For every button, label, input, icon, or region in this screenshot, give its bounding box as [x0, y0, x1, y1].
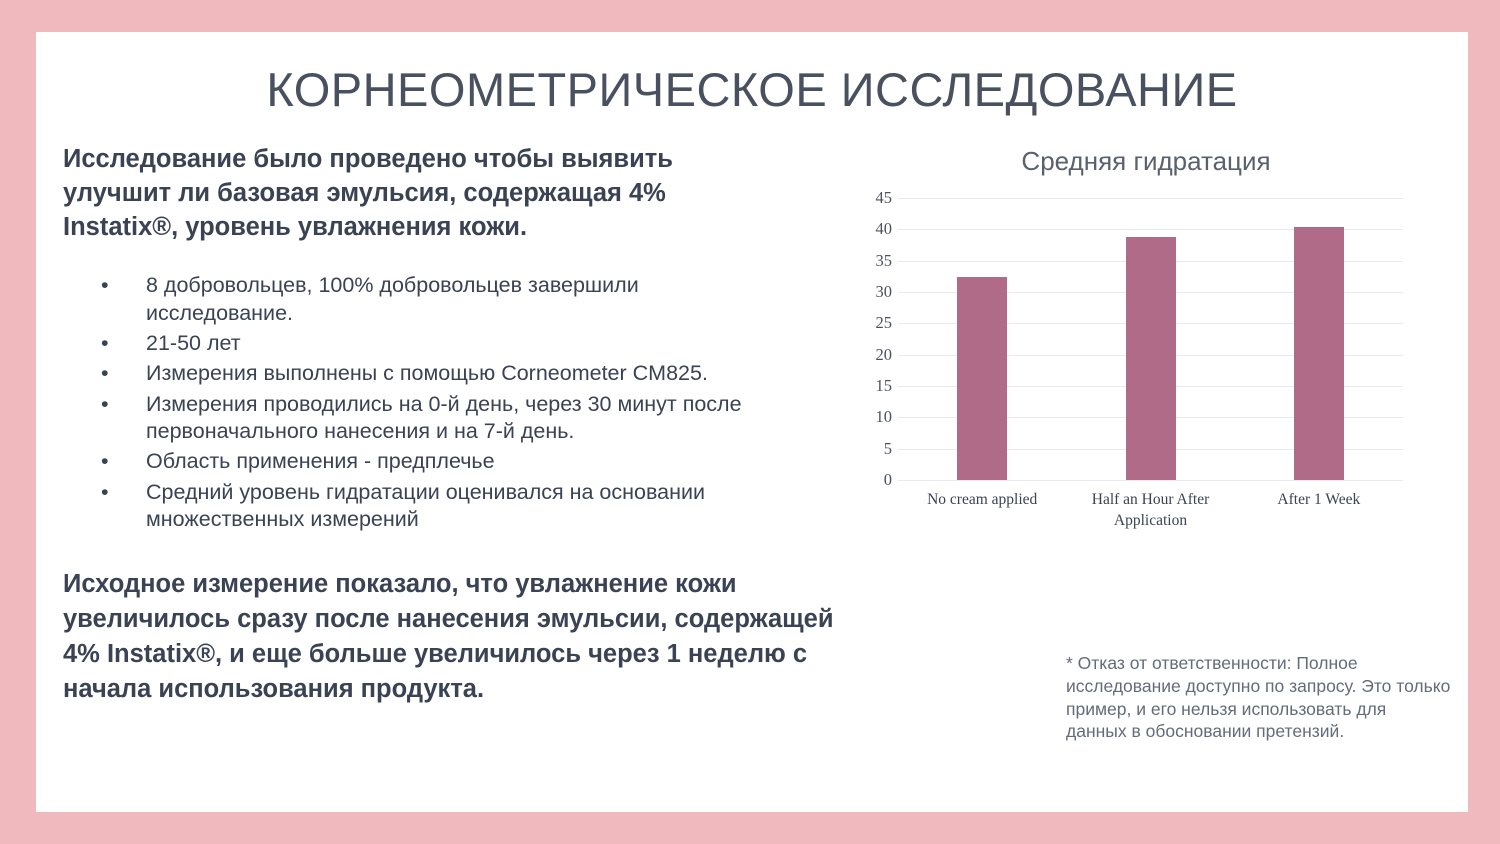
- list-item-label: Измерения выполнены с помощью Corneomete…: [146, 361, 708, 385]
- y-axis-ticks: 454035302520151050: [850, 198, 892, 480]
- gridline: [898, 480, 1403, 481]
- y-axis-tick-label: 30: [850, 282, 892, 302]
- list-item: • 21-50 лет: [63, 330, 783, 357]
- y-axis-tick-label: 25: [850, 313, 892, 333]
- list-item: • Область применения - предплечье: [63, 448, 783, 475]
- bar: [957, 277, 1007, 480]
- list-item-label: 8 добровольцев, 100% добровольцев заверш…: [146, 273, 639, 324]
- bullet-icon: •: [101, 479, 109, 506]
- list-item-label: Измерения проводились на 0-й день, через…: [146, 392, 742, 443]
- bullet-icon: •: [101, 330, 109, 357]
- bullet-icon: •: [101, 360, 109, 387]
- bar: [1294, 227, 1344, 480]
- disclaimer-text: * Отказ от ответственности: Полное иссле…: [1066, 652, 1451, 743]
- y-axis-tick-label: 5: [850, 439, 892, 459]
- hydration-bar-chart: Средняя гидратация 454035302520151050 No…: [836, 142, 1456, 562]
- chart-bars: [898, 198, 1403, 480]
- chart-title: Средняя гидратация: [836, 142, 1456, 177]
- slide-card: КОРНЕОМЕТРИЧЕСКОЕ ИССЛЕДОВАНИЕ Исследова…: [36, 32, 1468, 812]
- bullet-icon: •: [101, 391, 109, 418]
- intro-paragraph: Исследование было проведено чтобы выявит…: [63, 142, 778, 244]
- closing-paragraph: Исходное измерение показало, что увлажне…: [63, 567, 863, 707]
- x-axis-tick-label: No cream applied: [897, 490, 1067, 511]
- bar: [1126, 237, 1176, 480]
- list-item: • Средний уровень гидратации оценивался …: [63, 479, 783, 534]
- list-item: • Измерения проводились на 0-й день, чер…: [63, 391, 783, 446]
- study-details-list: • 8 добровольцев, 100% добровольцев заве…: [63, 272, 783, 533]
- chart-plot-wrapper: 454035302520151050 No cream appliedHalf …: [836, 198, 1456, 498]
- x-axis-tick-label: Half an Hour After Application: [1066, 490, 1236, 532]
- y-axis-tick-label: 45: [850, 188, 892, 208]
- list-item-label: Область применения - предплечье: [146, 449, 495, 473]
- x-axis-tick-label: After 1 Week: [1234, 490, 1404, 511]
- bullet-icon: •: [101, 448, 109, 475]
- y-axis-tick-label: 15: [850, 376, 892, 396]
- x-axis-labels: No cream appliedHalf an Hour After Appli…: [898, 490, 1403, 554]
- list-item: • Измерения выполнены с помощью Corneome…: [63, 360, 783, 387]
- y-axis-tick-label: 20: [850, 345, 892, 365]
- list-item-label: 21-50 лет: [146, 331, 241, 355]
- y-axis-tick-label: 0: [850, 470, 892, 490]
- y-axis-tick-label: 40: [850, 219, 892, 239]
- bullet-icon: •: [101, 272, 109, 299]
- y-axis-tick-label: 35: [850, 251, 892, 271]
- plot-area: [898, 198, 1403, 480]
- list-item: • 8 добровольцев, 100% добровольцев заве…: [63, 272, 783, 327]
- left-content-column: Исследование было проведено чтобы выявит…: [63, 142, 863, 707]
- y-axis-tick-label: 10: [850, 407, 892, 427]
- page-title: КОРНЕОМЕТРИЧЕСКОЕ ИССЛЕДОВАНИЕ: [36, 62, 1468, 117]
- list-item-label: Средний уровень гидратации оценивался на…: [146, 480, 705, 531]
